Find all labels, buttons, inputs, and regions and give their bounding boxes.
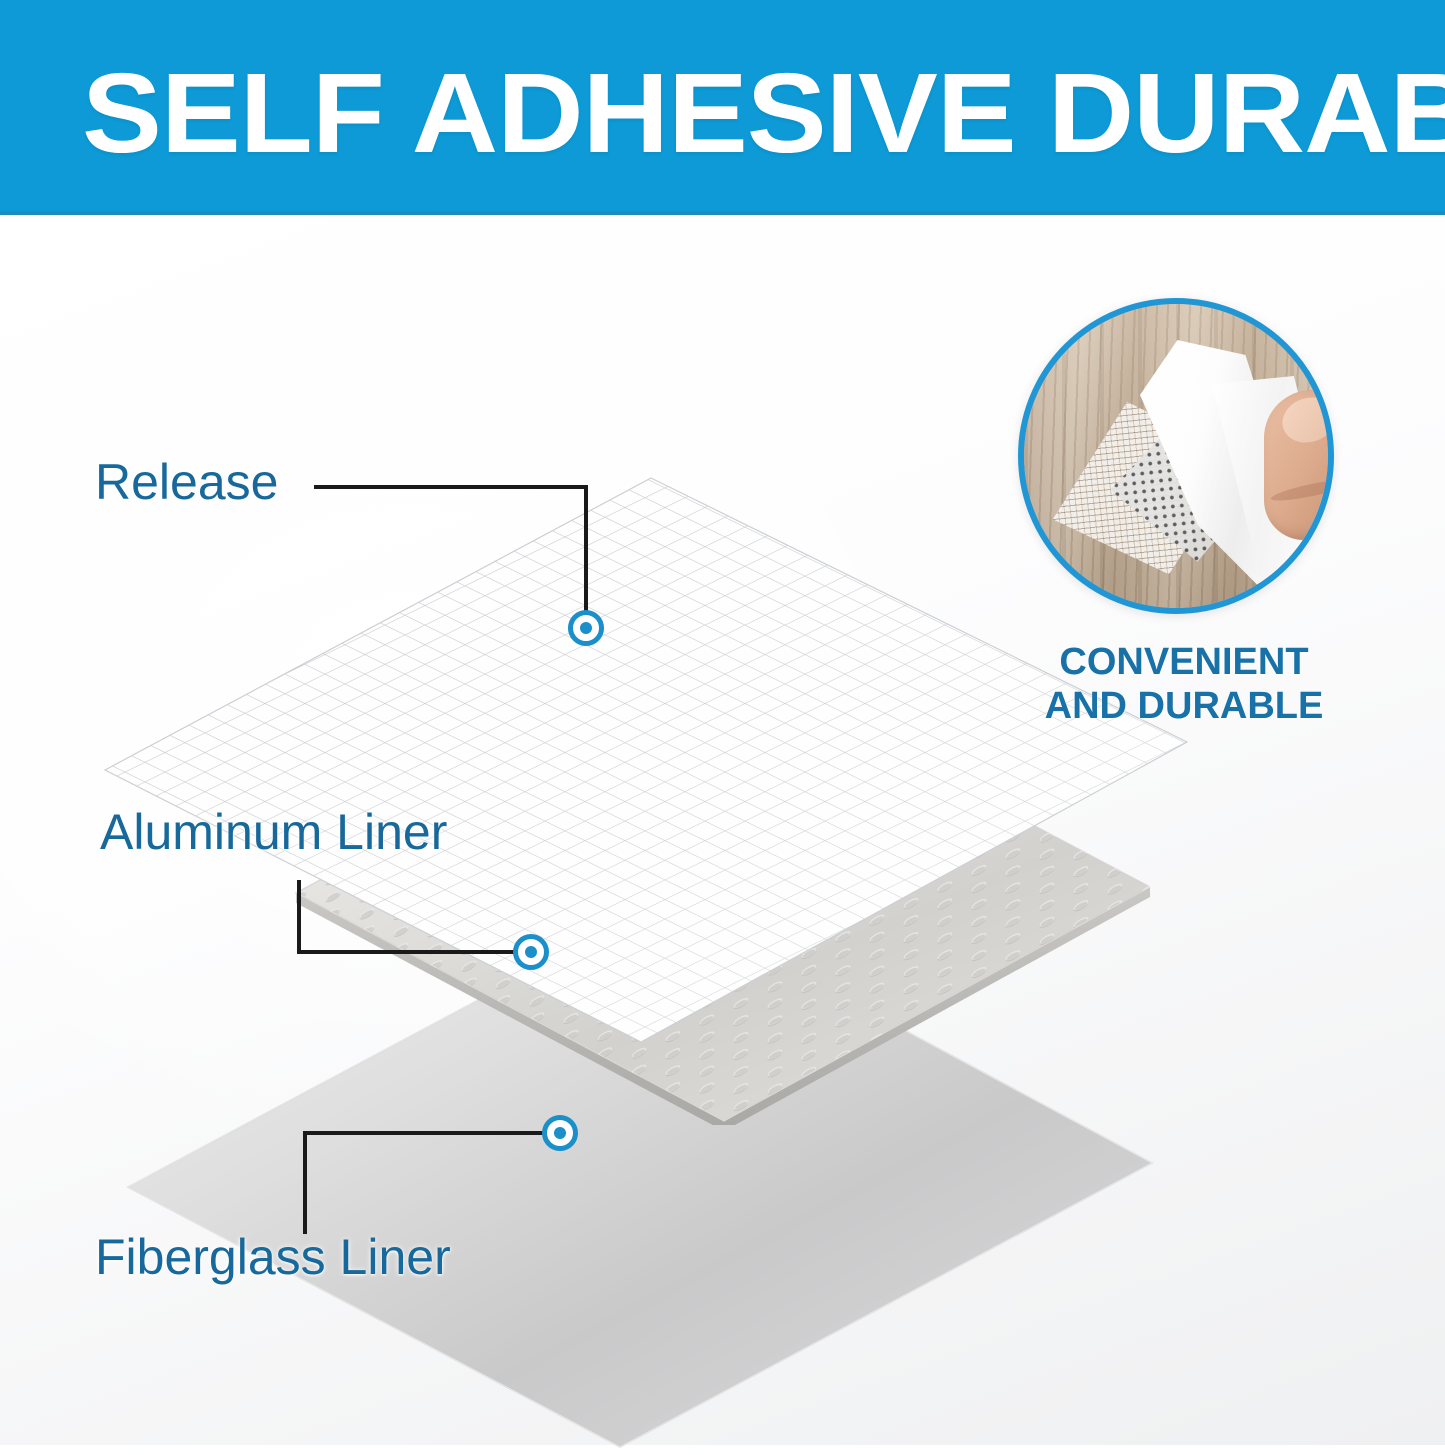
label-release: Release <box>95 455 278 509</box>
caption-line-2: AND DURABLE <box>1028 684 1340 728</box>
product-photo-inset <box>1018 298 1334 614</box>
infographic-root: SELF ADHESIVE DURABLE <box>0 0 1445 1445</box>
inset-caption: CONVENIENT AND DURABLE <box>1028 640 1340 728</box>
caption-line-1: CONVENIENT <box>1028 640 1340 684</box>
inset-clip <box>1024 304 1328 608</box>
header-banner: SELF ADHESIVE DURABLE <box>0 0 1445 215</box>
label-aluminum-liner: Aluminum Liner <box>100 805 447 859</box>
banner-title: SELF ADHESIVE DURABLE <box>82 58 1445 168</box>
label-fiberglass-liner: Fiberglass Liner <box>95 1230 451 1284</box>
